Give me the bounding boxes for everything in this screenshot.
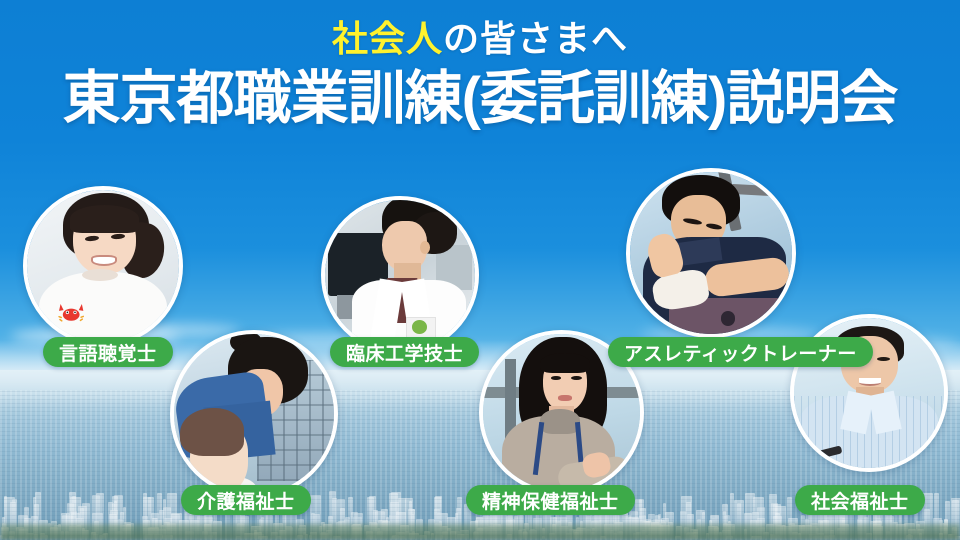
- photo-circle-care-worker: [170, 330, 338, 498]
- headline-block: 社会人の皆さまへ 東京都職業訓練(委託訓練)説明会: [0, 18, 960, 131]
- label-mental-health-worker: 精神保健福祉士: [466, 485, 635, 515]
- photo-athletic-trainer: [630, 172, 792, 334]
- page-title: 東京都職業訓練(委託訓練)説明会: [0, 67, 960, 131]
- label-athletic-trainer: アスレティックトレーナー: [608, 337, 873, 367]
- label-clinical-engineer: 臨床工学技士: [330, 337, 479, 367]
- crab-icon: [56, 301, 86, 325]
- label-social-worker: 社会福祉士: [795, 485, 925, 515]
- photo-care-worker: [174, 334, 334, 494]
- photo-circle-clinical-engineer: [321, 196, 479, 354]
- label-care-worker: 介護福祉士: [181, 485, 311, 515]
- label-speech-therapist: 言語聴覚士: [43, 337, 173, 367]
- photo-circle-speech-therapist: [23, 186, 183, 346]
- city-foreground-green: [0, 524, 960, 540]
- photo-clinical-engineer: [325, 200, 475, 350]
- photo-circle-athletic-trainer: [626, 168, 796, 338]
- subtitle-rest: の皆さまへ: [443, 18, 628, 59]
- subtitle-highlight: 社会人: [332, 18, 443, 59]
- photo-speech-therapist: [27, 190, 179, 342]
- banner-root: 社会人の皆さまへ 東京都職業訓練(委託訓練)説明会: [0, 0, 960, 540]
- subtitle: 社会人の皆さまへ: [0, 18, 960, 59]
